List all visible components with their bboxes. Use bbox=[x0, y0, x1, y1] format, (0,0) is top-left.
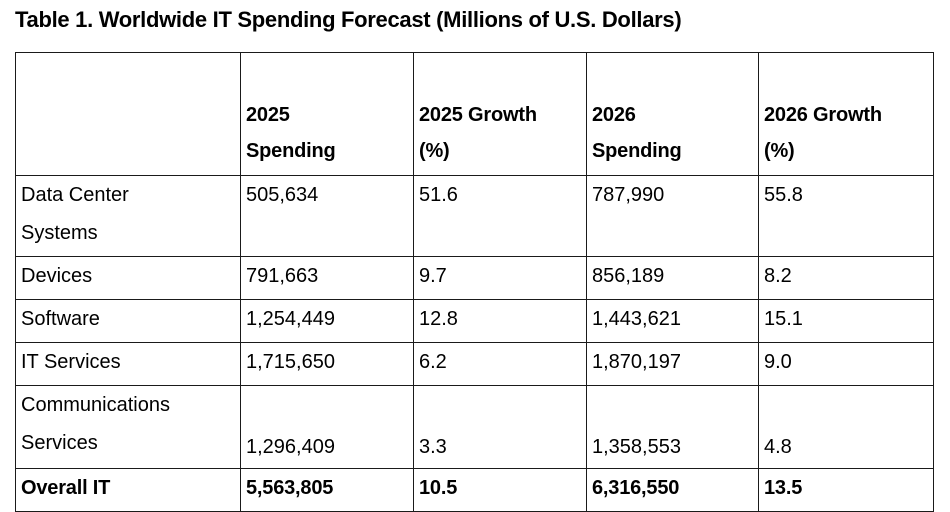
row-label-line1: Communications bbox=[21, 386, 240, 424]
cell-2025-spending: 505,634 bbox=[241, 176, 414, 257]
cell-2026-growth: 13.5 bbox=[759, 469, 934, 512]
page-title: Table 1. Worldwide IT Spending Forecast … bbox=[15, 5, 925, 35]
column-header-2025-spending-line1: 2025 bbox=[246, 97, 413, 133]
row-label-line1: Data Center bbox=[21, 176, 240, 214]
row-label-software: Software bbox=[16, 300, 241, 343]
table-row-total: Overall IT 5,563,805 10.5 6,316,550 13.5 bbox=[16, 469, 934, 512]
cell-2025-growth: 12.8 bbox=[414, 300, 587, 343]
cell-2026-growth: 4.8 bbox=[759, 386, 934, 469]
cell-2026-spending: 787,990 bbox=[587, 176, 759, 257]
cell-2025-growth: 9.7 bbox=[414, 257, 587, 300]
cell-2025-growth: 3.3 bbox=[414, 386, 587, 469]
column-header-2025-growth-line2: (%) bbox=[419, 133, 586, 169]
cell-2026-spending: 1,443,621 bbox=[587, 300, 759, 343]
row-label-devices: Devices bbox=[16, 257, 241, 300]
column-header-2025-spending-line2: Spending bbox=[246, 133, 413, 169]
cell-2026-spending: 1,870,197 bbox=[587, 343, 759, 386]
cell-2025-spending: 1,715,650 bbox=[241, 343, 414, 386]
cell-2026-growth: 55.8 bbox=[759, 176, 934, 257]
cell-2026-spending: 6,316,550 bbox=[587, 469, 759, 512]
table-container: 2025 Spending 2025 Growth (%) 2026 Spend… bbox=[15, 52, 933, 512]
cell-2025-spending: 5,563,805 bbox=[241, 469, 414, 512]
row-label-data-center-systems: Data Center Systems bbox=[16, 176, 241, 257]
row-label-communications-services: Communications Services bbox=[16, 386, 241, 469]
document-page: Table 1. Worldwide IT Spending Forecast … bbox=[0, 0, 950, 509]
column-header-2025-growth: 2025 Growth (%) bbox=[414, 53, 587, 176]
cell-2025-spending: 1,296,409 bbox=[241, 386, 414, 469]
column-header-2026-growth-line1: 2026 Growth bbox=[764, 97, 933, 133]
column-header-segment bbox=[16, 53, 241, 176]
cell-2025-growth: 51.6 bbox=[414, 176, 587, 257]
row-label-line2: Services bbox=[21, 424, 240, 462]
column-header-2026-spending-line2: Spending bbox=[592, 133, 758, 169]
cell-2025-growth: 6.2 bbox=[414, 343, 587, 386]
column-header-2026-growth-line2: (%) bbox=[764, 133, 933, 169]
row-label-overall-it: Overall IT bbox=[16, 469, 241, 512]
cell-2026-growth: 8.2 bbox=[759, 257, 934, 300]
cell-2026-spending: 856,189 bbox=[587, 257, 759, 300]
cell-2026-growth: 15.1 bbox=[759, 300, 934, 343]
cell-2026-growth: 9.0 bbox=[759, 343, 934, 386]
column-header-2026-growth: 2026 Growth (%) bbox=[759, 53, 934, 176]
it-spending-forecast-table: 2025 Spending 2025 Growth (%) 2026 Spend… bbox=[15, 52, 934, 512]
row-label-line2: Systems bbox=[21, 214, 240, 252]
column-header-2025-spending: 2025 Spending bbox=[241, 53, 414, 176]
cell-2026-spending: 1,358,553 bbox=[587, 386, 759, 469]
table-row: Data Center Systems 505,634 51.6 787,990… bbox=[16, 176, 934, 257]
cell-2025-spending: 791,663 bbox=[241, 257, 414, 300]
column-header-2026-spending-line1: 2026 bbox=[592, 97, 758, 133]
table-row: Communications Services 1,296,409 3.3 1,… bbox=[16, 386, 934, 469]
table-row: IT Services 1,715,650 6.2 1,870,197 9.0 bbox=[16, 343, 934, 386]
column-header-2025-growth-line1: 2025 Growth bbox=[419, 97, 586, 133]
column-header-2026-spending: 2026 Spending bbox=[587, 53, 759, 176]
table-row: Software 1,254,449 12.8 1,443,621 15.1 bbox=[16, 300, 934, 343]
table-row: Devices 791,663 9.7 856,189 8.2 bbox=[16, 257, 934, 300]
cell-2025-spending: 1,254,449 bbox=[241, 300, 414, 343]
row-label-it-services: IT Services bbox=[16, 343, 241, 386]
table-header-row: 2025 Spending 2025 Growth (%) 2026 Spend… bbox=[16, 53, 934, 176]
cell-2025-growth: 10.5 bbox=[414, 469, 587, 512]
